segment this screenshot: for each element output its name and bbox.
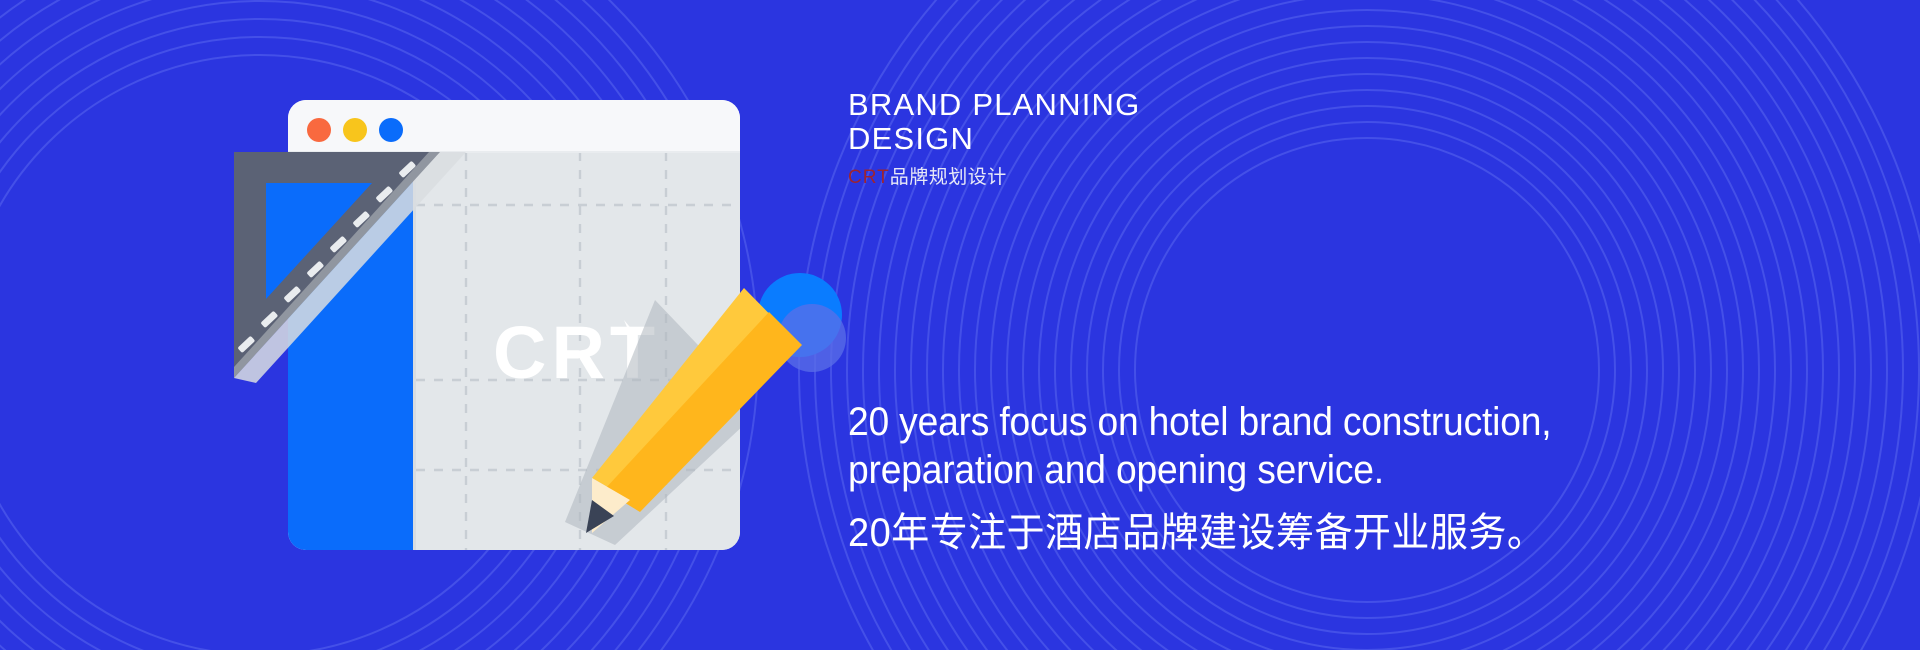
tagline-en-line-1: 20 years focus on hotel brand constructi… bbox=[848, 398, 1551, 446]
tagline-chinese: 20年专注于酒店品牌建设筹备开业服务。 bbox=[848, 508, 1566, 558]
minimize-dot bbox=[343, 118, 367, 142]
document-sheet bbox=[413, 152, 740, 550]
background-rings-left bbox=[0, 0, 860, 650]
window-sidebar bbox=[288, 152, 413, 550]
pencil-barrel-light bbox=[592, 288, 790, 500]
tagline-block: 20 years focus on hotel brand constructi… bbox=[848, 398, 1604, 558]
document-guides bbox=[416, 152, 740, 550]
pencil-wood bbox=[592, 478, 630, 533]
maximize-dot bbox=[379, 118, 403, 142]
eyebrow-chinese-text: 品牌规划设计 bbox=[890, 167, 1007, 188]
window-titlebar bbox=[288, 100, 740, 152]
tagline-en-line-2: preparation and opening service. bbox=[848, 446, 1551, 494]
triangle-ruler-icon bbox=[234, 152, 470, 402]
eyebrow-block: BRAND PLANNING DESIGN CRT品牌规划设计 bbox=[848, 88, 1140, 190]
eyebrow-crt-mark: CRT bbox=[848, 167, 890, 188]
document-logo-text: CRT bbox=[493, 311, 660, 394]
ruler-graduations bbox=[234, 152, 440, 378]
brand-banner: CRT bbox=[0, 0, 1920, 650]
eyebrow-line-2: DESIGN bbox=[848, 122, 1140, 156]
eyebrow-chinese: CRT品牌规划设计 bbox=[848, 166, 1140, 190]
copy-column: BRAND PLANNING DESIGN CRT品牌规划设计 20 years… bbox=[848, 0, 1868, 650]
pencil-barrel bbox=[604, 312, 802, 512]
pencil-icon bbox=[584, 273, 846, 533]
eyebrow-line-1: BRAND PLANNING bbox=[848, 88, 1140, 122]
pencil-eraser bbox=[758, 273, 842, 357]
pencil-shadow bbox=[565, 300, 760, 545]
pencil-tip bbox=[586, 500, 614, 533]
browser-window-icon: CRT bbox=[288, 100, 760, 550]
close-dot bbox=[307, 118, 331, 142]
